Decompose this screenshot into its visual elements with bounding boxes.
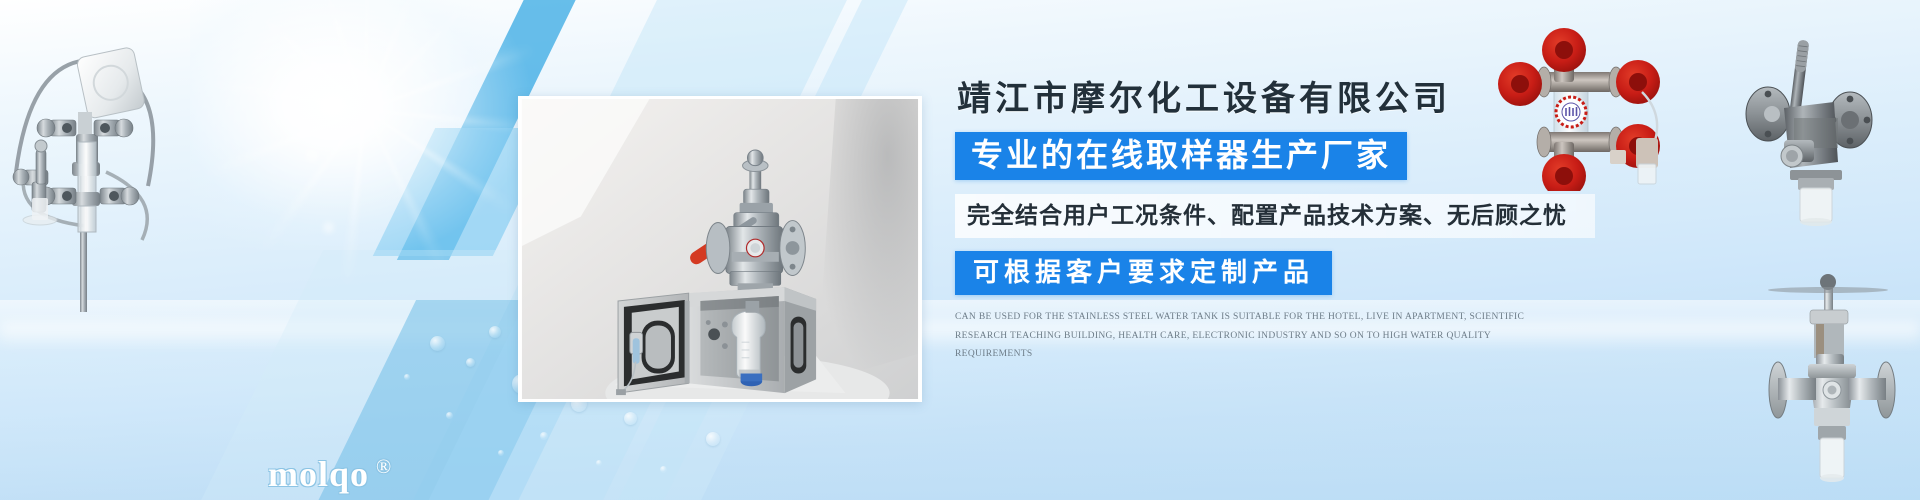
headline-bar: 专业的在线取样器生产厂家: [955, 132, 1407, 180]
company-name: 靖江市摩尔化工设备有限公司: [957, 80, 1595, 119]
lens-flare-dot: [305, 148, 319, 162]
promo-banner: 靖江市摩尔化工设备有限公司 专业的在线取样器生产厂家 完全结合用户工况条件、配置…: [0, 0, 1920, 500]
lens-flare-dot: [323, 222, 334, 233]
subline-bar: 完全结合用户工况条件、配置产品技术方案、无后顾之忧: [955, 194, 1595, 238]
logo-wordmark: molqo: [268, 454, 369, 494]
sun-flare-icon: [190, 0, 530, 250]
product-left-sampler: [0, 24, 174, 314]
headline-text-block: 靖江市摩尔化工设备有限公司 专业的在线取样器生产厂家 完全结合用户工况条件、配置…: [955, 80, 1595, 364]
cta-bar: 可根据客户要求定制产品: [955, 251, 1332, 295]
product-rod-valve: [1752, 268, 1912, 493]
product-photo: [518, 96, 922, 402]
brand-logo: molqo®: [268, 456, 392, 492]
english-description: CAN BE USED FOR THE STAINLESS STEEL WATE…: [955, 308, 1560, 364]
registered-trademark-icon: ®: [376, 456, 392, 478]
product-lever-valve: [1706, 22, 1916, 237]
